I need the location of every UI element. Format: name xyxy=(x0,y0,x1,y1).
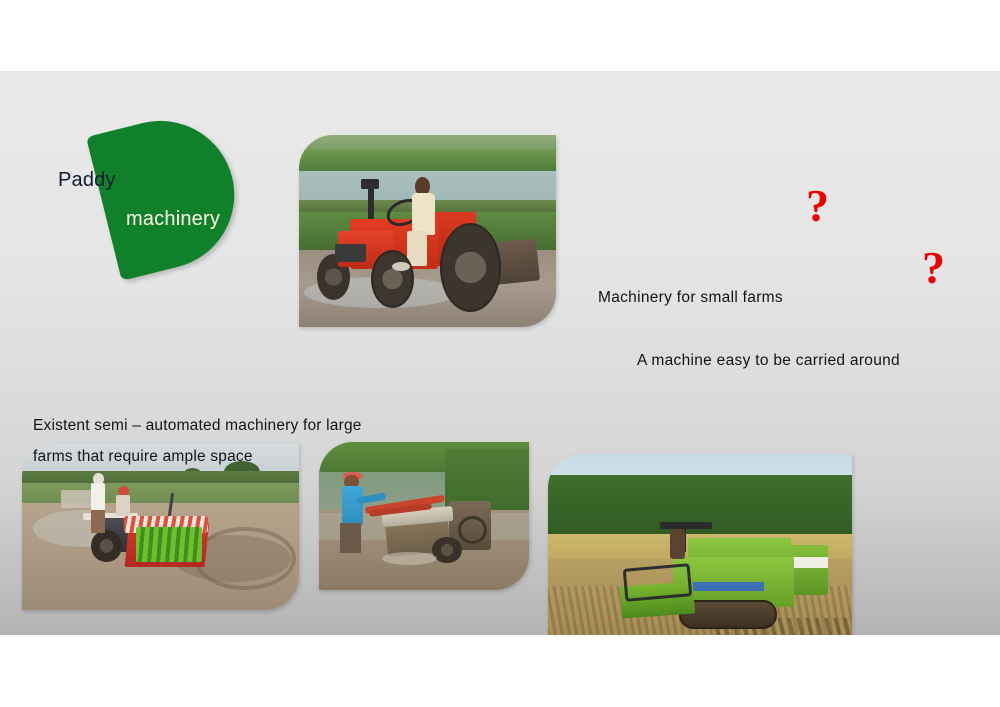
paddy-machinery-badge: Paddy machinery xyxy=(27,119,257,279)
caption-existent-line-2: farms that require ample space xyxy=(33,441,433,472)
question-mark-small-farms-icon: ? xyxy=(806,183,829,229)
caption-machinery-small-farms: Machinery for small farms xyxy=(598,289,783,307)
green-semicircle-shape xyxy=(86,105,250,281)
slide-canvas: Paddy machinery xyxy=(0,71,1000,635)
machinery-label: machinery xyxy=(126,208,220,231)
photo-combine-harvester xyxy=(548,454,852,635)
caption-easy-to-carry: A machine easy to be carried around xyxy=(637,352,900,370)
caption-existent-machinery: Existent semi – automated machinery for … xyxy=(33,410,433,472)
paddy-label: Paddy xyxy=(58,169,116,192)
photo-tractor xyxy=(299,135,556,327)
combine-scene xyxy=(548,454,852,635)
caption-existent-line-1: Existent semi – automated machinery for … xyxy=(33,410,433,441)
tractor-scene xyxy=(299,135,556,327)
question-mark-carried-around-icon: ? xyxy=(922,245,945,291)
